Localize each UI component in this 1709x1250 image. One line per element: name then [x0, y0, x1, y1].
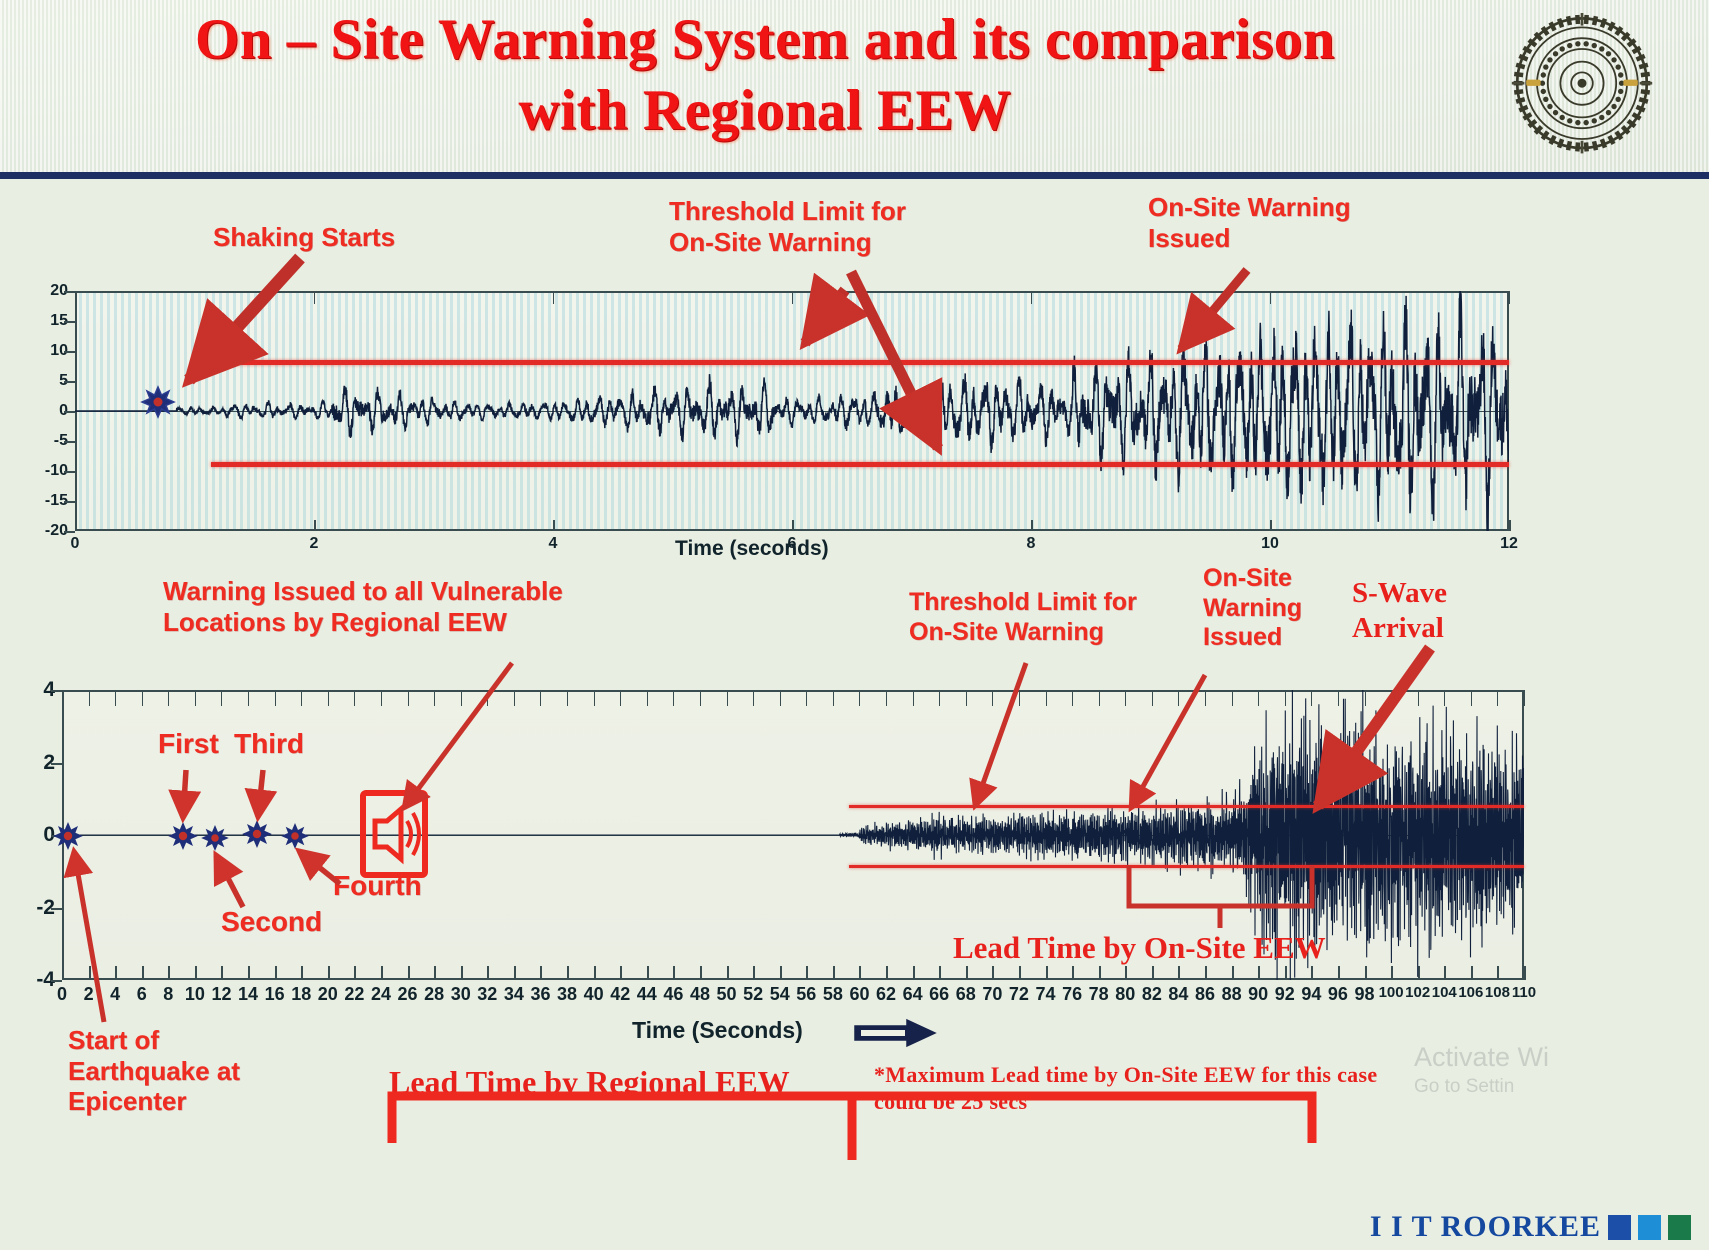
annotation-s-wave-arrival: S-Wave Arrival — [1352, 576, 1447, 647]
x-tick-label: 78 — [1089, 984, 1109, 1005]
x-tick-label: 26 — [398, 984, 418, 1005]
x-tick-label: 58 — [823, 984, 843, 1005]
x-tick-label: 68 — [956, 984, 976, 1005]
x-tick-label: 88 — [1222, 984, 1242, 1005]
x-tick-label: 8 — [163, 984, 173, 1005]
x-tick-label: 104 — [1432, 984, 1457, 1001]
iit-roorkee-emblem-icon — [1510, 10, 1654, 160]
watermark-line-1: Activate Wi — [1414, 1040, 1549, 1075]
x-tick-label: 24 — [371, 984, 391, 1005]
x-tick-label: 34 — [504, 984, 524, 1005]
x-tick-label: 40 — [584, 984, 604, 1005]
y-tick — [64, 441, 75, 443]
annotation-threshold-limit-top: Threshold Limit for On-Site Warning — [669, 196, 906, 257]
watermark-line-2: Go to Settin — [1414, 1075, 1549, 1100]
x-tick-label: 30 — [451, 984, 471, 1005]
x-tick-label: 80 — [1115, 984, 1135, 1005]
footer-square-2 — [1638, 1215, 1661, 1240]
x-tick-label: 82 — [1142, 984, 1162, 1005]
x-tick-label: 12 — [211, 984, 231, 1005]
x-tick-label: 76 — [1062, 984, 1082, 1005]
x-tick-label: 86 — [1195, 984, 1215, 1005]
x-tick-label: 32 — [477, 984, 497, 1005]
annotation-shaking-starts: Shaking Starts — [213, 222, 395, 253]
note-footnote: *Maximum Lead time by On-Site EEW for th… — [874, 1062, 1377, 1116]
x-tick-label: 42 — [610, 984, 630, 1005]
x-tick-label: 4 — [549, 535, 558, 553]
x-tick-label: 8 — [1027, 535, 1036, 553]
x-tick-label: 20 — [318, 984, 338, 1005]
threshold-line-lower — [211, 462, 1509, 467]
y-tick — [64, 321, 75, 323]
title-band: On – Site Warning System and its compari… — [0, 0, 1709, 179]
x-tick-label: 2 — [84, 984, 94, 1005]
annotation-onsite-warning-issued-top: On-Site Warning Issued — [1148, 192, 1351, 253]
x-tick-label: 94 — [1301, 984, 1321, 1005]
x-tick-label: 36 — [530, 984, 550, 1005]
windows-activation-watermark: Activate Wi Go to Settin — [1414, 1040, 1549, 1100]
x-tick-label: 92 — [1275, 984, 1295, 1005]
threshold-line-upper-bottom — [849, 805, 1524, 808]
annotation-third: Third — [234, 727, 304, 760]
x-tick-label: 14 — [238, 984, 258, 1005]
x-tick-label: 74 — [1036, 984, 1056, 1005]
x-tick-label: 100 — [1379, 984, 1404, 1001]
x-tick-label: 22 — [344, 984, 364, 1005]
x-tick-label: 44 — [637, 984, 657, 1005]
x-tick-label: 60 — [849, 984, 869, 1005]
x-tick-label: 52 — [743, 984, 763, 1005]
x-tick-label: 18 — [291, 984, 311, 1005]
page-title: On – Site Warning System and its compari… — [150, 4, 1380, 147]
annotation-onsite-warning-issued-bottom: On-Site Warning Issued — [1203, 564, 1302, 653]
x-tick-label: 46 — [663, 984, 683, 1005]
annotation-threshold-limit-bottom: Threshold Limit for On-Site Warning — [909, 588, 1137, 647]
x-tick-label: 12 — [1500, 535, 1518, 553]
annotation-lead-time-onsite: Lead Time by On-Site EEW — [953, 929, 1326, 967]
y-tick — [64, 411, 75, 413]
x-tick-label: 0 — [57, 984, 67, 1005]
y-tick — [64, 381, 75, 383]
annotation-second: Second — [221, 905, 322, 938]
note-lead-time-regional: Lead Time by Regional EEW — [389, 1063, 790, 1102]
x-tick-label: 4 — [110, 984, 120, 1005]
annotation-fourth: Fourth — [333, 869, 422, 902]
x-tick-label: 102 — [1405, 984, 1430, 1001]
y-tick — [64, 291, 75, 293]
x-tick-label: 56 — [796, 984, 816, 1005]
top-chart-x-axis-title: Time (seconds) — [675, 537, 829, 561]
y-tick — [64, 531, 75, 533]
time-direction-arrow-icon — [855, 1020, 935, 1046]
iit-roorkee-footer: I I T ROORKEE — [1370, 1210, 1691, 1244]
x-tick-label: 48 — [690, 984, 710, 1005]
x-tick-label: 108 — [1485, 984, 1510, 1001]
y-tick — [64, 501, 75, 503]
x-tick — [1524, 966, 1526, 980]
footer-square-1 — [1608, 1215, 1631, 1240]
x-tick-label: 10 — [185, 984, 205, 1005]
x-tick-label: 0 — [71, 535, 80, 553]
bottom-chart-x-axis-title: Time (Seconds) — [632, 1017, 803, 1044]
x-tick-label: 90 — [1248, 984, 1268, 1005]
bottom-x-tick-labels: 0246810121416182022242628303234363840424… — [62, 984, 1524, 1012]
x-tick-label: 6 — [137, 984, 147, 1005]
footer-square-3 — [1668, 1215, 1691, 1240]
y-tick — [64, 351, 75, 353]
y-tick — [64, 471, 75, 473]
slide-root: On – Site Warning System and its compari… — [0, 0, 1709, 1250]
x-tick-label: 28 — [424, 984, 444, 1005]
annotation-regional-warning-issued: Warning Issued to all Vulnerable Locatio… — [163, 576, 563, 637]
top-accelerogram-plot: 20 15 10 5 0 -5 -10 -15 -20 — [75, 291, 1509, 531]
x-tick-label: 16 — [265, 984, 285, 1005]
annotation-start-of-earthquake: Start of Earthquake at Epicenter — [68, 1025, 240, 1117]
x-tick-label: 84 — [1168, 984, 1188, 1005]
threshold-line-lower-bottom — [849, 865, 1524, 868]
x-tick-label: 50 — [717, 984, 737, 1005]
x-tick-label: 106 — [1458, 984, 1483, 1001]
top-waveform — [75, 291, 1509, 531]
annotation-first: First — [158, 727, 219, 760]
x-tick-label: 110 — [1512, 984, 1536, 1001]
threshold-line-upper — [211, 360, 1509, 365]
x-tick-label: 72 — [1009, 984, 1029, 1005]
x-tick-label: 70 — [982, 984, 1002, 1005]
x-tick-label: 98 — [1354, 984, 1374, 1005]
x-tick-label: 66 — [929, 984, 949, 1005]
x-tick-label: 2 — [310, 535, 319, 553]
footer-label: I I T ROORKEE — [1370, 1210, 1601, 1244]
x-tick — [1524, 690, 1525, 706]
x-tick-label: 38 — [557, 984, 577, 1005]
x-tick-label: 62 — [876, 984, 896, 1005]
x-tick-label: 64 — [903, 984, 923, 1005]
x-tick-label: 54 — [770, 984, 790, 1005]
x-tick-label: 10 — [1261, 535, 1279, 553]
x-tick-label: 96 — [1328, 984, 1348, 1005]
